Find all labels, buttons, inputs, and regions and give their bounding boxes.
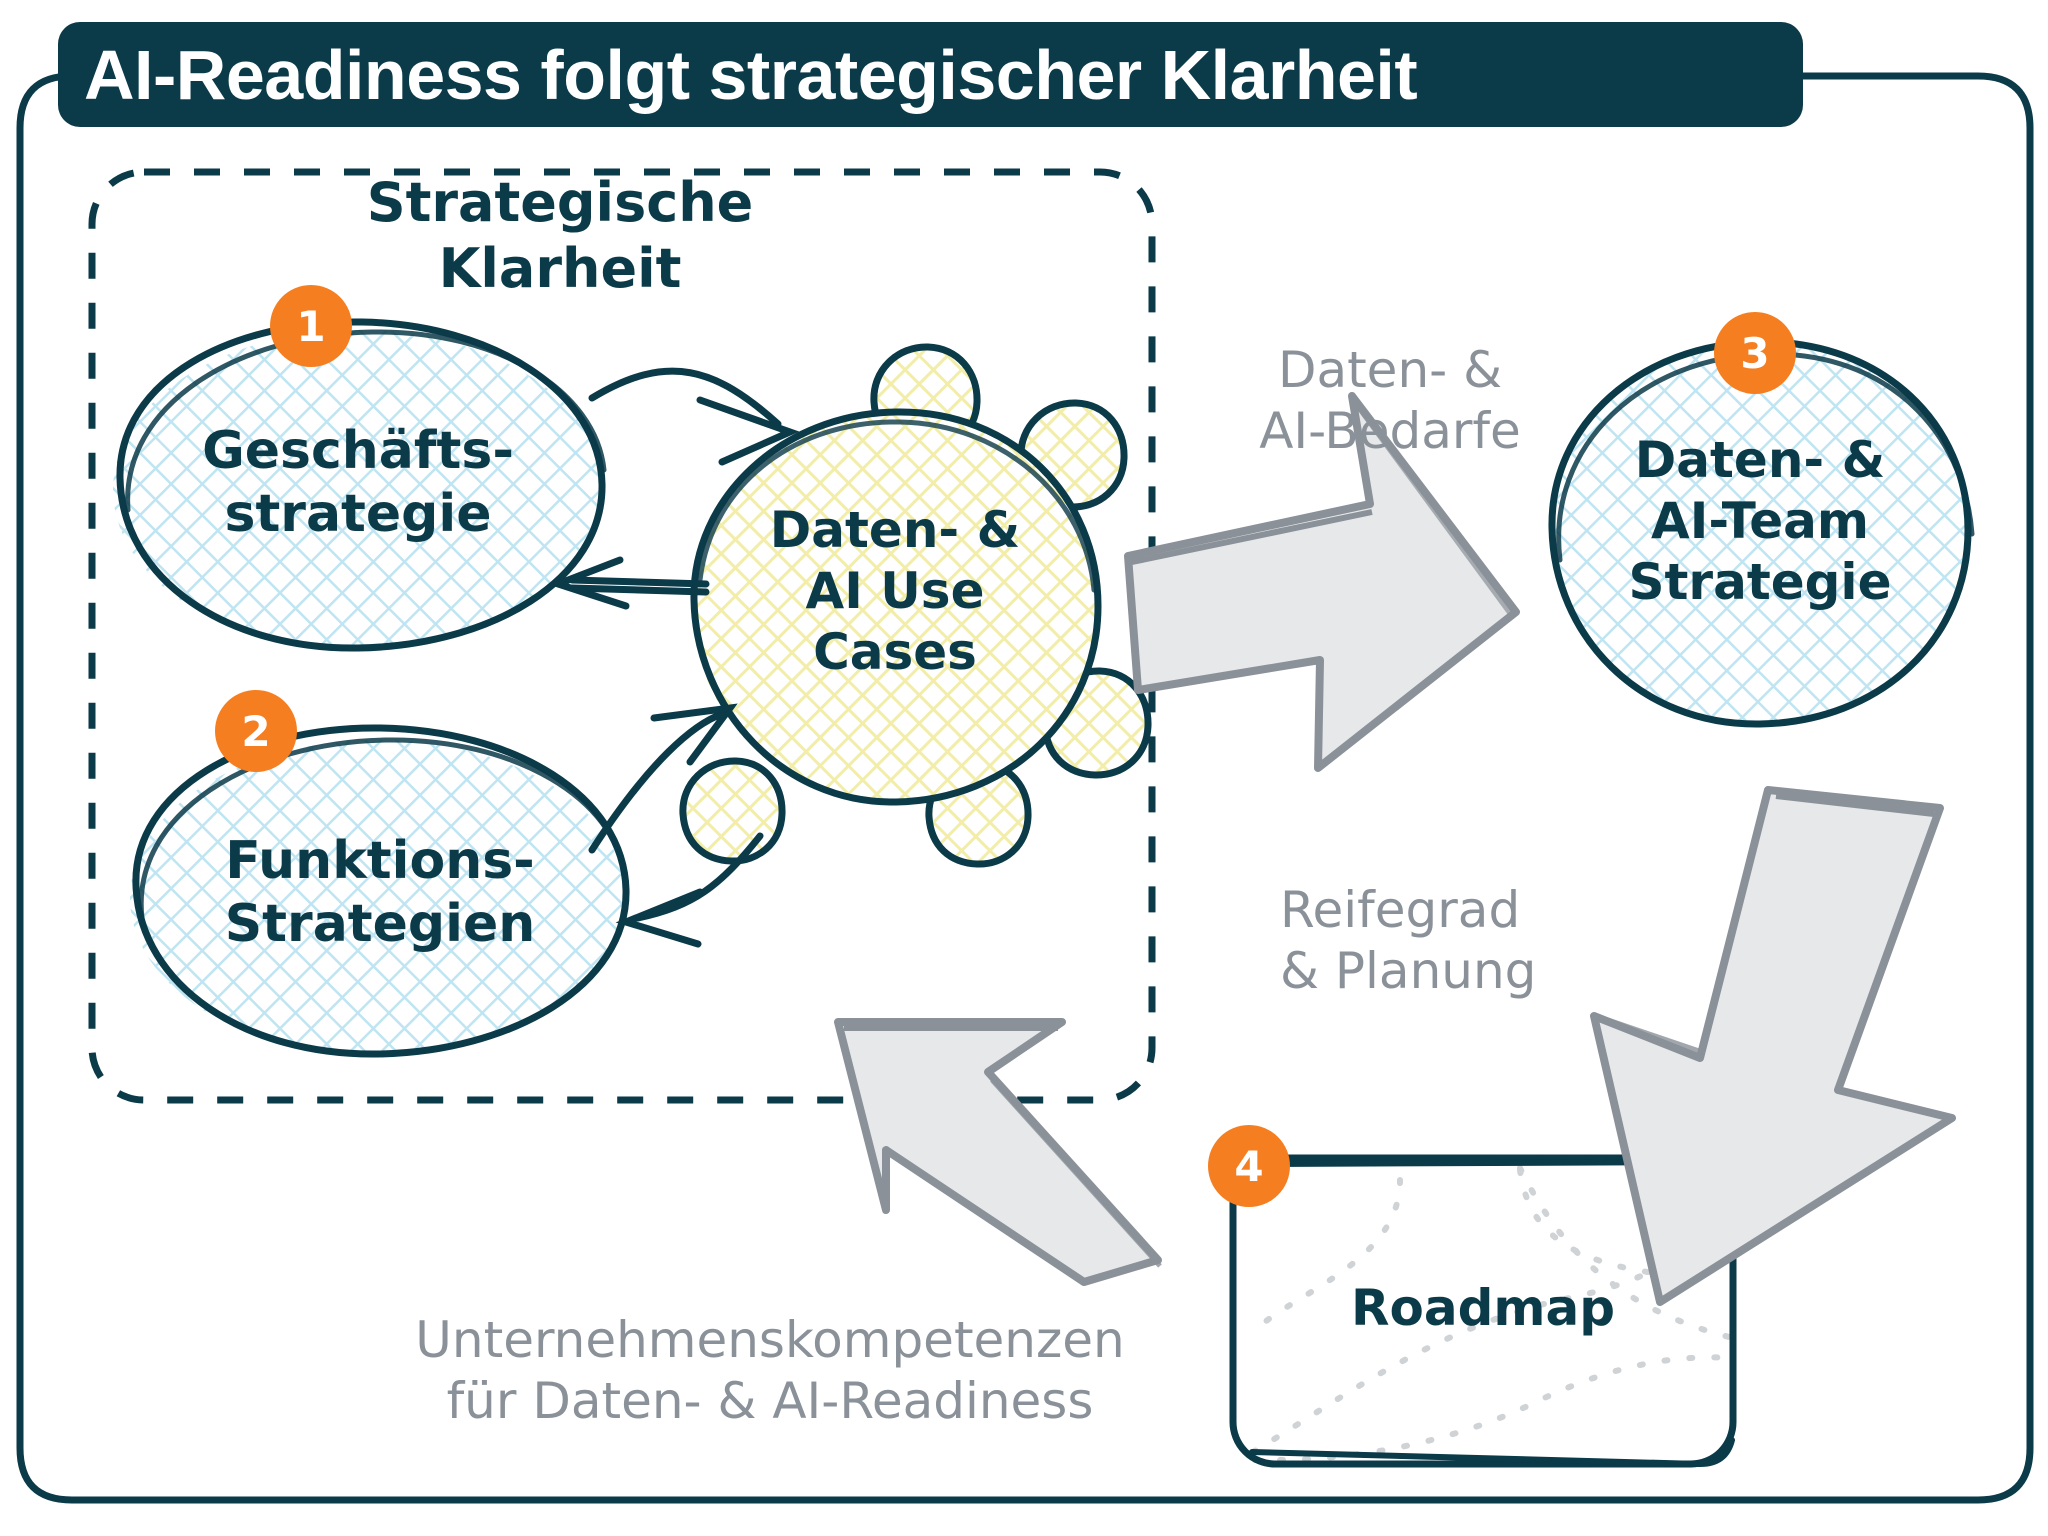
arrow-down-reifegrad — [1594, 790, 1952, 1302]
flow-label-reifegrad: Reifegrad & Planung — [1280, 880, 1660, 1002]
flow-label-bedarfe: Daten- & AI-Bedarfe — [1180, 340, 1600, 462]
node-label-daten-ai-team-strategie: Daten- & AI-Team Strategie — [1560, 430, 1960, 613]
node-badge-2: 2 — [215, 690, 297, 772]
group-box-label: Strategische Klarheit — [240, 170, 880, 302]
page-title-badge: AI-Readiness folgt strategischer Klarhei… — [58, 22, 1803, 127]
arrow-upleft-kompetenzen — [838, 1022, 1160, 1282]
node-label-roadmap: Roadmap — [1283, 1278, 1683, 1339]
node-label-funktions-strategien: Funktions- Strategien — [170, 830, 590, 957]
node-badge-1: 1 — [270, 285, 352, 367]
page-title: AI-Readiness folgt strategischer Klarhei… — [58, 35, 1417, 115]
node-label-geschaeftsstrategie: Geschäfts- strategie — [148, 420, 568, 547]
flow-label-kompetenzen: Unternehmenskompetenzen für Daten- & AI-… — [330, 1310, 1210, 1432]
node-label-use-cases: Daten- & AI Use Cases — [700, 500, 1090, 683]
node-badge-3: 3 — [1714, 312, 1796, 394]
diagram-canvas: AI-Readiness folgt strategischer Klarhei… — [0, 0, 2048, 1536]
node-badge-4: 4 — [1208, 1125, 1290, 1207]
